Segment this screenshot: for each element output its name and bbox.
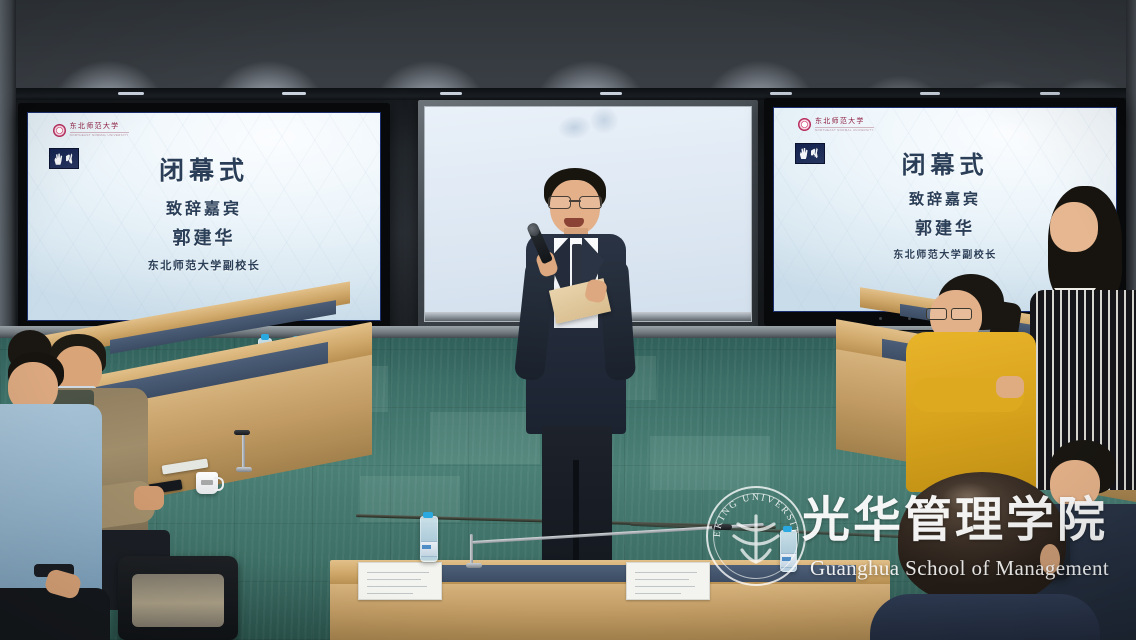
office-chair[interactable] xyxy=(118,556,238,640)
desk-microphone[interactable] xyxy=(228,430,262,472)
sign-language-badge-icon xyxy=(795,143,825,164)
man-back-of-head-foreground xyxy=(880,472,1090,640)
slide-subtitle: 致辞嘉宾 xyxy=(774,188,1116,209)
slide-speaker-name: 郭建华 xyxy=(774,214,1116,239)
slide-text-block: 闭幕式 致辞嘉宾 郭建华 东北师范大学副校长 xyxy=(774,149,1116,261)
lecture-hall-scene: 东北师范大学 NORTHEAST NORMAL UNIVERSITY 闭幕式 致… xyxy=(0,0,1136,640)
logo-english-text: NORTHEAST NORMAL UNIVERSITY xyxy=(70,132,129,137)
slide-title: 闭幕式 xyxy=(774,149,1116,181)
hand-icon xyxy=(54,153,65,165)
university-logo: 东北师范大学 NORTHEAST NORMAL UNIVERSITY xyxy=(798,118,874,132)
logo-chinese-text: 东北师范大学 xyxy=(815,118,874,125)
hand-icon xyxy=(799,147,810,159)
man-in-light-blue-shirt xyxy=(0,352,120,640)
left-wall-pillar xyxy=(0,0,16,330)
slide-speaker-name: 郭建华 xyxy=(28,224,380,250)
slide-subtitle: 致辞嘉宾 xyxy=(28,195,380,219)
slide-speaker-title: 东北师范大学副校长 xyxy=(28,257,380,273)
slide-title: 闭幕式 xyxy=(28,154,380,188)
coffee-mug[interactable] xyxy=(196,472,218,494)
eyeglasses-icon xyxy=(926,308,972,319)
university-seal-icon xyxy=(53,124,66,137)
whiteboard-smudge xyxy=(553,106,635,144)
university-logo: 东北师范大学 NORTHEAST NORMAL UNIVERSITY xyxy=(53,123,129,137)
logo-english-text: NORTHEAST NORMAL UNIVERSITY xyxy=(815,127,874,132)
sound-wave-icon xyxy=(66,153,75,165)
sign-language-badge-icon xyxy=(49,148,79,169)
slide-speaker-title: 东北师范大学副校长 xyxy=(774,246,1116,261)
university-seal-icon xyxy=(798,118,811,131)
logo-chinese-text: 东北师范大学 xyxy=(70,123,129,130)
water-bottle[interactable] xyxy=(780,530,797,572)
document-sheet xyxy=(358,562,442,600)
sound-wave-icon xyxy=(811,147,820,159)
eyeglasses-icon xyxy=(548,196,602,208)
gooseneck-microphone[interactable] xyxy=(466,520,766,568)
water-bottle[interactable] xyxy=(420,516,438,562)
slide-text-block: 闭幕式 致辞嘉宾 郭建华 东北师范大学副校长 xyxy=(28,154,380,273)
